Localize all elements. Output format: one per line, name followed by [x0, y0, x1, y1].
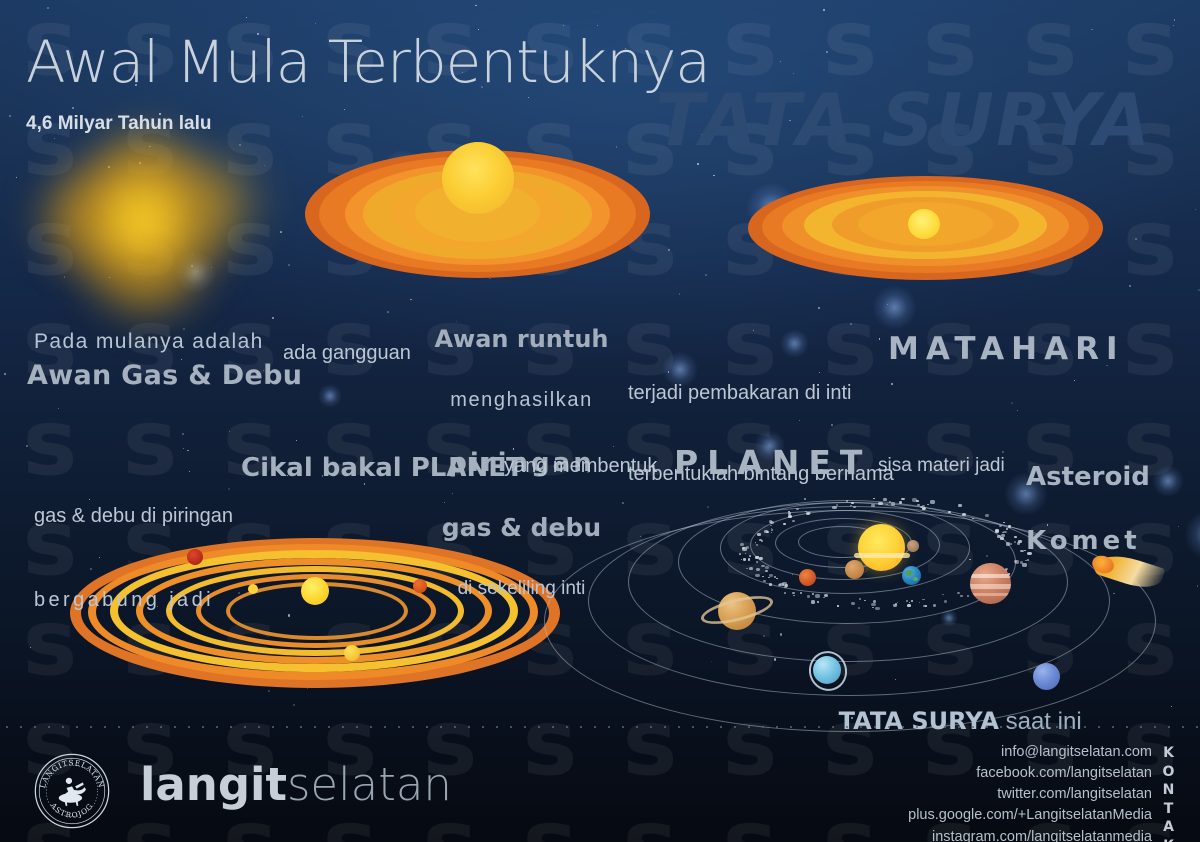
asteroid-rock	[958, 504, 961, 506]
contact-line[interactable]: facebook.com/langitselatan	[908, 763, 1152, 784]
star	[1129, 285, 1131, 287]
star	[302, 116, 303, 117]
star	[4, 373, 6, 375]
kontak-letter: N	[1161, 781, 1178, 800]
asteroid-rock	[1014, 541, 1017, 543]
asteroid-rock	[815, 594, 820, 598]
star	[1074, 380, 1075, 381]
asteroid-rock	[901, 498, 904, 500]
asteroid-rock	[1003, 522, 1005, 523]
asteroid-rock	[1020, 561, 1023, 564]
asteroid-rock	[784, 586, 787, 588]
asteroid-rock	[811, 600, 816, 604]
asteroid-rock	[948, 511, 951, 513]
label-current-solar-system-bold: TATA SURYA	[839, 707, 999, 735]
label-asteroid: Asteroid	[1026, 464, 1150, 491]
asteroid-rock	[748, 558, 751, 560]
asteroid-rock	[749, 567, 753, 570]
label-collapse-line4: gas & debu	[434, 515, 609, 541]
star	[1091, 29, 1092, 30]
label-protoplanet: Cikal bakal PLANET	[241, 453, 524, 483]
star	[246, 17, 247, 18]
asteroid-rock	[922, 505, 925, 507]
asteroid-rock	[911, 600, 913, 601]
earth-icon	[902, 566, 921, 585]
protoplanet-yellow	[344, 645, 360, 661]
asteroid-rock	[907, 604, 911, 607]
star	[713, 175, 715, 177]
star	[387, 311, 389, 313]
label-accretion-block: gas & debu di piringan bergabung jadi	[34, 446, 233, 670]
label-planet: PLANET	[674, 443, 871, 482]
watermark-letter: s	[900, 400, 1000, 500]
star	[1017, 410, 1018, 411]
big-heading-tata-surya: TATA SURYA	[655, 78, 1152, 162]
logo-text-selatan: selatan	[287, 758, 452, 811]
label-collapse-line5: di sekeliling inti	[434, 577, 609, 601]
star	[288, 264, 290, 266]
mars-icon	[799, 569, 816, 586]
watermark-letter: s	[1100, 200, 1200, 300]
label-matahari: MATAHARI	[888, 331, 1125, 367]
kontak-vertical-label: KONTAK	[1161, 744, 1178, 842]
asteroid-rock	[807, 595, 810, 597]
star	[16, 177, 17, 178]
watermark-letter: s	[500, 800, 600, 842]
langitselatan-wordmark: langitselatan	[140, 758, 452, 811]
star	[1174, 19, 1175, 20]
star	[887, 304, 888, 305]
star	[1011, 402, 1013, 404]
asteroid-rock	[851, 602, 855, 605]
asteroid-rock	[972, 518, 973, 519]
star	[30, 647, 32, 649]
label-komet: Komet	[1026, 527, 1150, 556]
star	[47, 7, 49, 9]
asteroid-rock	[756, 544, 758, 545]
asteroid-rock	[763, 580, 766, 583]
asteroid-rock	[776, 578, 778, 579]
star	[823, 9, 825, 11]
star	[315, 23, 316, 24]
asteroid-rock	[1006, 528, 1008, 530]
langitselatan-seal-logo: LANGITSELATAN ASTROJOG	[33, 752, 111, 830]
asteroid-rock	[899, 501, 902, 504]
label-forming: yang membentuk	[504, 455, 657, 478]
star	[597, 25, 598, 26]
asteroid-rock	[740, 543, 744, 546]
star	[410, 299, 412, 301]
asteroid-rock	[925, 605, 927, 606]
glow-star	[872, 285, 917, 330]
glow-star	[1152, 465, 1183, 496]
star	[697, 163, 699, 165]
page-title: Awal Mula Terbentuknya	[26, 28, 710, 96]
star	[58, 408, 59, 409]
protoplanet-orange	[413, 579, 427, 593]
asteroid-rock	[875, 607, 880, 611]
label-asteroid-comet-block: Asteroid Komet	[1026, 428, 1150, 592]
star	[293, 704, 294, 705]
asteroid-rock	[769, 574, 773, 577]
label-leftover: sisa materi jadi	[878, 455, 1005, 477]
asteroid-rock	[893, 604, 897, 607]
star	[826, 51, 828, 53]
asteroid-rock	[1003, 531, 1006, 534]
label-disturbance: ada gangguan	[283, 342, 411, 365]
asteroid-rock	[765, 566, 769, 569]
contact-list: info@langitselatan.comfacebook.com/langi…	[908, 742, 1152, 842]
kontak-letter: T	[1161, 800, 1178, 819]
star	[1002, 451, 1004, 453]
asteroid-rock	[743, 558, 746, 561]
infographic-poster: ssssssssssssssssssssssssssssssssssssssss…	[0, 0, 1200, 842]
contact-line[interactable]: twitter.com/langitselatan	[908, 784, 1152, 805]
asteroid-rock	[739, 553, 742, 555]
asteroid-rock	[909, 602, 911, 603]
glow-star	[318, 384, 342, 408]
label-accretion-line1: gas & debu di piringan	[34, 502, 233, 530]
asteroid-rock	[761, 565, 764, 568]
subtitle-year: 4,6 Milyar Tahun lalu	[26, 113, 211, 135]
asteroid-rock	[837, 605, 839, 606]
label-accretion-line2: bergabung jadi	[34, 586, 233, 614]
star	[668, 249, 670, 251]
asteroid-rock	[824, 594, 828, 597]
logo-text-langit: langit	[140, 758, 287, 811]
label-collapse-line2: menghasilkan	[434, 388, 609, 413]
kontak-letter: K	[1161, 744, 1178, 763]
asteroid-rock	[960, 595, 963, 597]
asteroid-rock	[1017, 542, 1020, 545]
asteroid-rock	[769, 583, 773, 586]
protoplanetary-disk-illustration	[305, 140, 650, 290]
asteroid-rock	[985, 514, 989, 517]
contact-line[interactable]: plus.google.com/+LangitselatanMedia	[908, 805, 1152, 826]
label-cloud-intro: Pada mulanya adalah	[34, 330, 264, 354]
star	[296, 440, 297, 441]
protostar-core	[301, 577, 329, 605]
star	[622, 502, 624, 504]
asteroid-rock	[1000, 537, 1004, 540]
kontak-letter: K	[1161, 837, 1178, 842]
star	[613, 446, 614, 447]
asteroid-rock	[919, 602, 920, 603]
star	[679, 293, 680, 294]
asteroid-rock	[1020, 550, 1023, 553]
asteroid-rock	[967, 595, 969, 596]
star	[793, 73, 794, 74]
star	[1135, 238, 1136, 239]
watermark-letter: s	[300, 400, 400, 500]
asteroid-rock	[749, 555, 752, 557]
asteroid-rock	[759, 557, 763, 560]
star	[850, 323, 852, 325]
star	[280, 231, 282, 233]
asteroid-rock	[962, 513, 966, 516]
asteroid-rock	[922, 599, 924, 601]
asteroid-rock	[762, 576, 764, 577]
asteroid-rock	[942, 594, 944, 596]
asteroid-rock	[741, 559, 743, 560]
contact-line[interactable]: instagram.com/langitselatanmedia	[908, 827, 1152, 842]
asteroid-rock	[872, 607, 874, 608]
asteroid-rock	[746, 568, 748, 570]
label-ignition-block: terjadi pembakaran di inti terbentuklah …	[628, 326, 894, 542]
asteroid-rock	[774, 576, 776, 578]
asteroid-rock	[995, 530, 999, 533]
asteroid-rock	[800, 592, 802, 593]
asteroid-rock	[793, 595, 795, 597]
asteroid-rock	[1014, 560, 1017, 562]
star	[705, 274, 707, 276]
star	[1173, 25, 1174, 26]
asteroid-rock	[765, 570, 768, 572]
asteroid-rock	[755, 574, 760, 578]
asteroid-rock	[784, 592, 787, 594]
star	[344, 109, 345, 110]
asteroid-rock	[858, 607, 861, 609]
mercury-icon	[907, 540, 919, 552]
asteroid-rock	[927, 504, 929, 505]
asteroid-rock	[912, 498, 917, 502]
asteroid-rock	[756, 568, 760, 571]
asteroid-rock	[859, 598, 862, 600]
watermark-letter: s	[500, 700, 600, 800]
star	[26, 445, 27, 446]
asteroid-rock	[817, 601, 819, 602]
star	[563, 25, 564, 26]
asteroid-rock	[944, 600, 947, 603]
asteroid-rock	[1008, 525, 1011, 527]
venus-icon	[845, 560, 864, 579]
asteroid-rock	[823, 597, 825, 599]
star	[9, 115, 11, 117]
asteroid-rock	[1010, 543, 1012, 544]
kontak-letter: O	[1161, 763, 1178, 782]
star	[818, 307, 820, 309]
watermark-letter: s	[700, 800, 800, 842]
contact-line[interactable]: info@langitselatan.com	[908, 742, 1152, 763]
watermark-letter: s	[800, 800, 900, 842]
star	[780, 61, 781, 62]
star	[229, 431, 230, 432]
protoplanet-small-yellow	[248, 584, 258, 594]
watermark-letter: s	[600, 800, 700, 842]
label-cloud-name: Awan Gas & Debu	[27, 360, 302, 391]
star	[72, 107, 74, 109]
star	[528, 97, 529, 98]
asteroid-rock	[1014, 536, 1016, 538]
svg-text:ASTROJOG: ASTROJOG	[48, 800, 95, 819]
asteroid-rock	[745, 553, 747, 554]
asteroid-rock	[871, 603, 876, 607]
star-ignition-disk-illustration	[748, 172, 1103, 287]
gas-dust-cloud-illustration	[18, 118, 278, 333]
asteroid-rock	[957, 592, 960, 595]
label-ignition-line1: terjadi pembakaran di inti	[628, 380, 894, 407]
asteroid-rock	[999, 525, 1002, 527]
kontak-letter: A	[1161, 818, 1178, 837]
star	[1195, 209, 1196, 210]
footer-divider	[0, 726, 1200, 728]
asteroid-rock	[864, 600, 866, 601]
asteroid-rock	[756, 561, 759, 563]
asteroid-rock	[746, 546, 749, 549]
label-collapse-line1: Awan runtuh	[434, 327, 609, 352]
jupiter-icon	[970, 563, 1011, 604]
asteroid-rock	[933, 604, 936, 606]
label-current-solar-system-rest: saat ini	[999, 708, 1082, 735]
asteroid-rock	[755, 542, 756, 543]
star	[475, 5, 476, 6]
asteroid-rock	[930, 500, 934, 503]
star	[182, 433, 184, 435]
star	[364, 483, 365, 484]
watermark-letter: s	[600, 700, 700, 800]
